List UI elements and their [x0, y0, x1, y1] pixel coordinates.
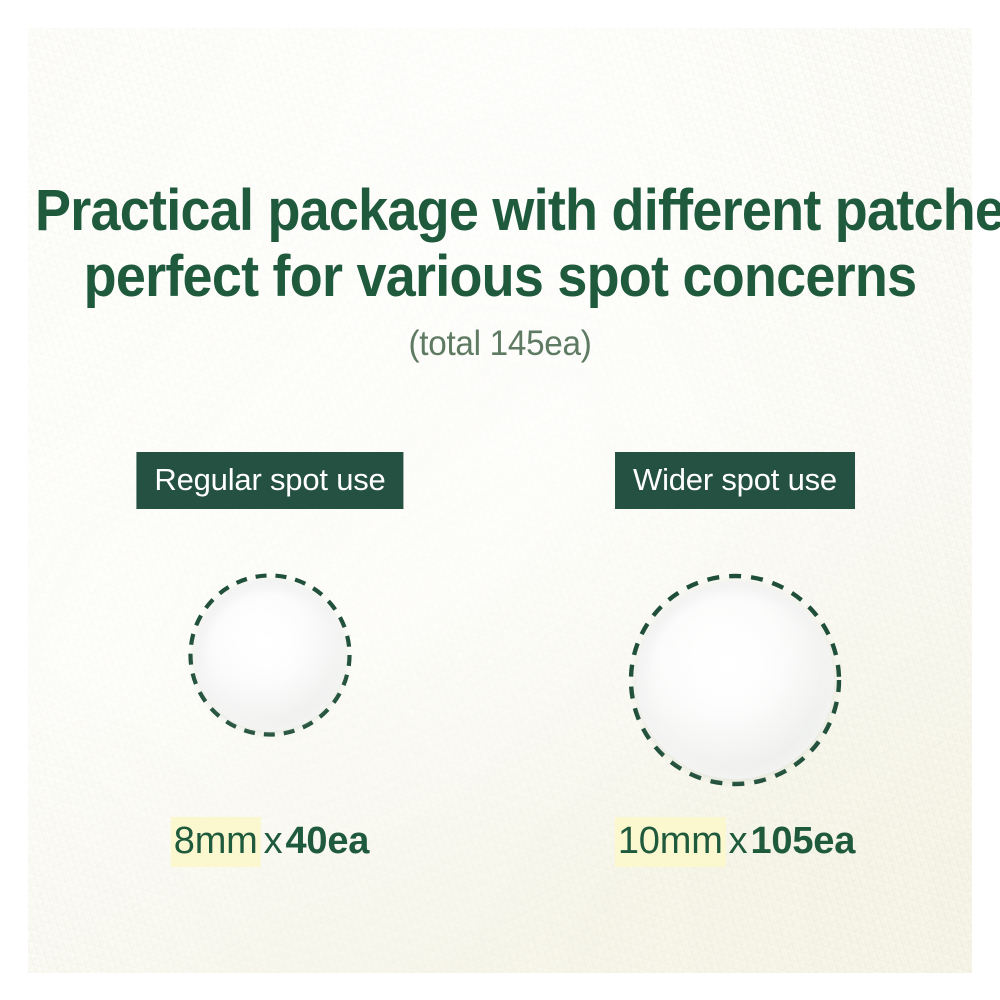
- caption-10mm: 10mmx105ea: [615, 818, 855, 864]
- patch-disc: [636, 581, 834, 779]
- product-detail-image: Practical package with different patches…: [0, 0, 1000, 1000]
- badge-wider-spot-use: Wider spot use: [615, 452, 855, 509]
- caption-size-10mm: 10mm: [615, 817, 726, 867]
- patch-core-highlight: [672, 615, 796, 735]
- caption-quantity-105ea: 105ea: [750, 820, 855, 862]
- patch-core-highlight: [222, 605, 316, 697]
- caption-8mm: 8mmx40ea: [171, 818, 369, 864]
- caption-separator: x: [261, 820, 286, 862]
- caption-separator: x: [726, 820, 751, 862]
- product-column-regular: Regular spot use 8mmx40ea: [120, 0, 420, 1000]
- caption-quantity-40ea: 40ea: [285, 820, 369, 862]
- badge-regular-spot-use: Regular spot use: [136, 452, 403, 509]
- caption-size-8mm: 8mm: [171, 817, 261, 867]
- patch-illustration-10mm: [627, 572, 843, 788]
- patch-illustration-8mm: [187, 572, 353, 738]
- patch-disc: [194, 579, 346, 731]
- product-column-wider: Wider spot use 10mmx105ea: [585, 0, 885, 1000]
